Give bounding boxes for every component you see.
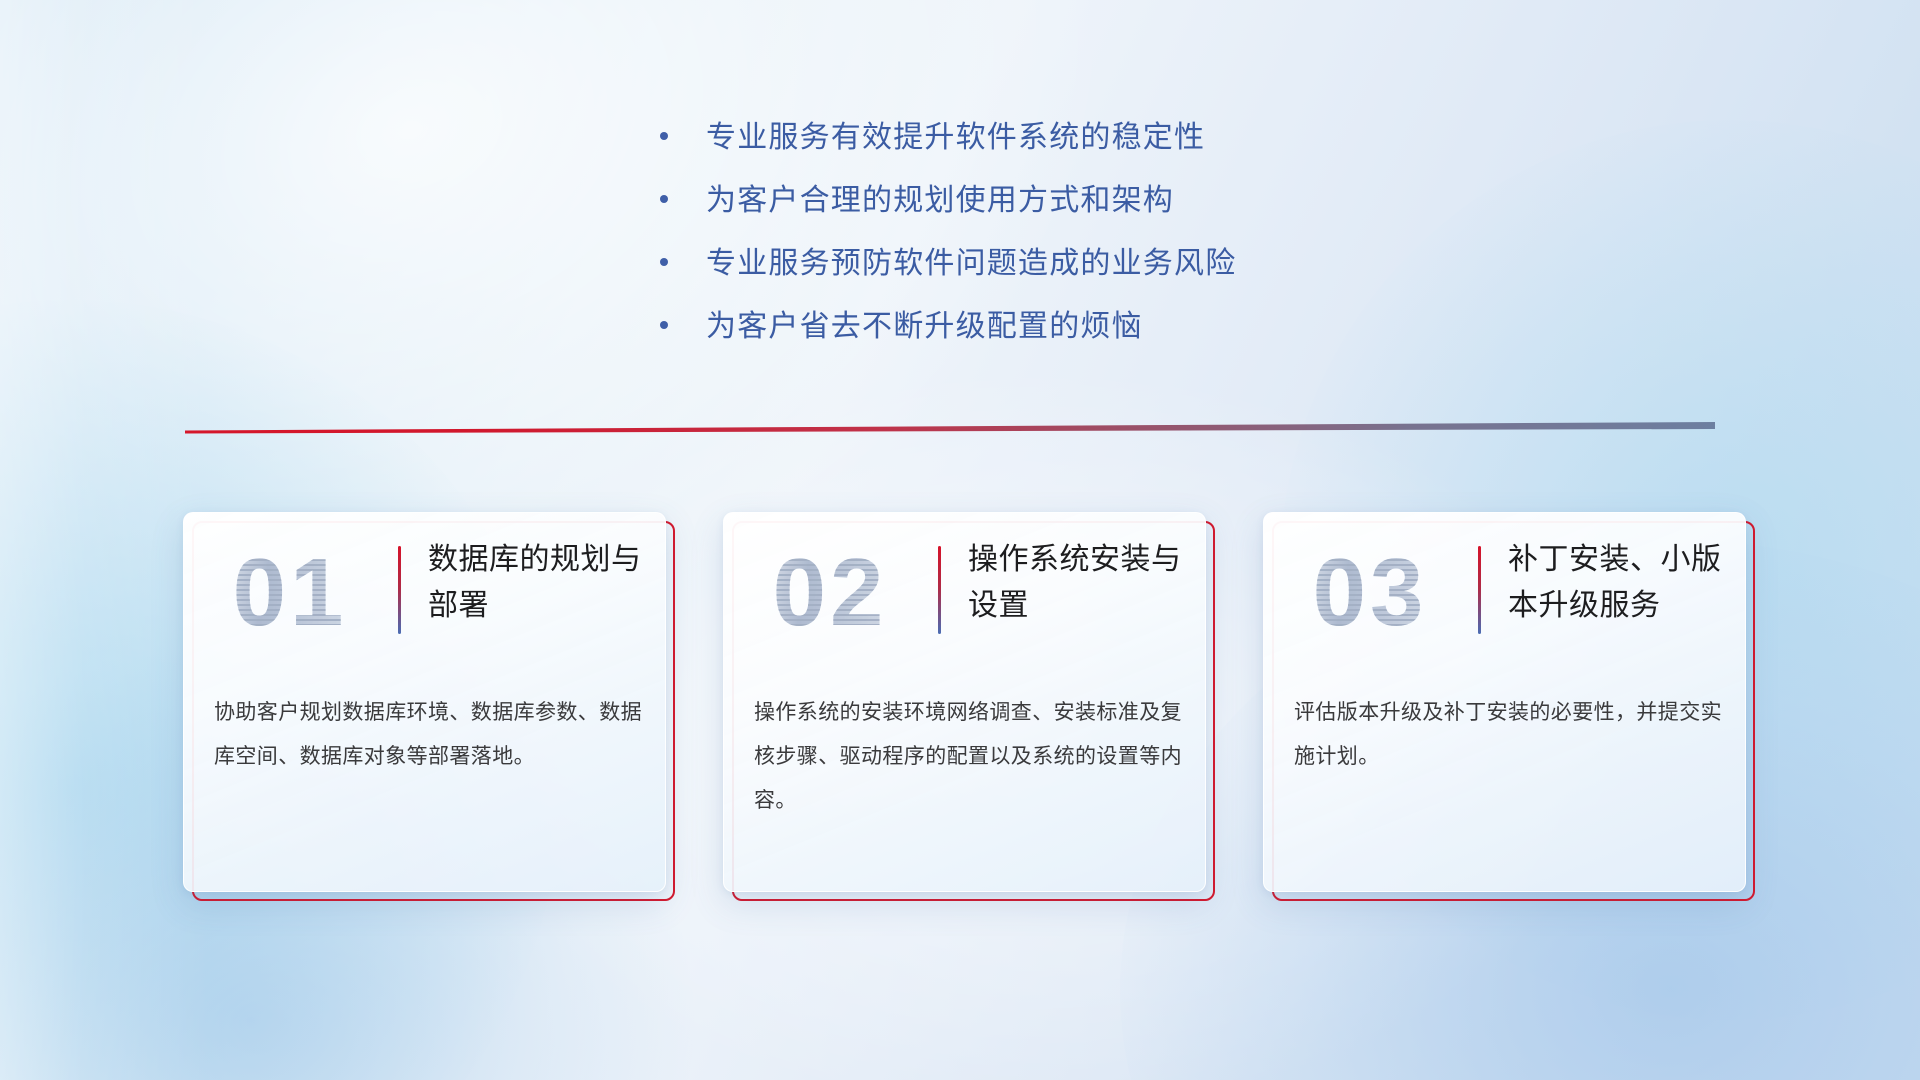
list-item: 为客户合理的规划使用方式和架构 [660, 175, 1420, 238]
bullet-text: 为客户合理的规划使用方式和架构 [706, 175, 1174, 219]
bullet-text: 为客户省去不断升级配置的烦恼 [706, 301, 1143, 345]
card-header: 01 数据库的规划与部署 [184, 513, 665, 681]
card-panel[interactable]: 02 操作系统安装与设置 操作系统的安装环境网络调查、安装标准及复核步骤、驱动程… [723, 512, 1206, 892]
card-divider-rule [1478, 546, 1481, 634]
bullet-dot-icon [660, 132, 668, 140]
card-header: 02 操作系统安装与设置 [724, 513, 1205, 681]
service-card-03[interactable]: 03 补丁安装、小版本升级服务 评估版本升级及补丁安装的必要性，并提交实施计划。 [1263, 512, 1746, 892]
card-description: 操作系统的安装环境网络调查、安装标准及复核步骤、驱动程序的配置以及系统的设置等内… [754, 691, 1182, 823]
service-card-02[interactable]: 02 操作系统安装与设置 操作系统的安装环境网络调查、安装标准及复核步骤、驱动程… [723, 512, 1206, 892]
service-card-01[interactable]: 01 数据库的规划与部署 协助客户规划数据库环境、数据库参数、数据库空间、数据库… [183, 512, 666, 892]
bullet-dot-icon [660, 195, 668, 203]
list-item: 为客户省去不断升级配置的烦恼 [660, 301, 1420, 364]
bullet-dot-icon [660, 321, 668, 329]
card-title: 补丁安装、小版本升级服务 [1508, 537, 1736, 629]
card-title: 数据库的规划与部署 [428, 537, 656, 629]
card-description: 协助客户规划数据库环境、数据库参数、数据库空间、数据库对象等部署落地。 [214, 691, 642, 779]
card-number: 01 [210, 539, 370, 647]
bullet-text: 专业服务有效提升软件系统的稳定性 [706, 112, 1205, 156]
card-panel[interactable]: 03 补丁安装、小版本升级服务 评估版本升级及补丁安装的必要性，并提交实施计划。 [1263, 512, 1746, 892]
card-number: 03 [1290, 539, 1450, 647]
card-divider-rule [938, 546, 941, 634]
background-light-streak [0, 0, 210, 1080]
list-item: 专业服务有效提升软件系统的稳定性 [660, 112, 1420, 175]
card-divider-rule [398, 546, 401, 634]
bullet-dot-icon [660, 258, 668, 266]
service-card-row: 01 数据库的规划与部署 协助客户规划数据库环境、数据库参数、数据库空间、数据库… [183, 512, 1746, 892]
slide-canvas: 专业服务有效提升软件系统的稳定性 为客户合理的规划使用方式和架构 专业服务预防软… [0, 0, 1920, 1080]
benefits-bullet-list: 专业服务有效提升软件系统的稳定性 为客户合理的规划使用方式和架构 专业服务预防软… [660, 112, 1420, 364]
list-item: 专业服务预防软件问题造成的业务风险 [660, 238, 1420, 301]
card-title: 操作系统安装与设置 [968, 537, 1196, 629]
card-number: 02 [750, 539, 910, 647]
card-header: 03 补丁安装、小版本升级服务 [1264, 513, 1745, 681]
card-description: 评估版本升级及补丁安装的必要性，并提交实施计划。 [1294, 691, 1722, 779]
card-panel[interactable]: 01 数据库的规划与部署 协助客户规划数据库环境、数据库参数、数据库空间、数据库… [183, 512, 666, 892]
section-divider [185, 422, 1715, 436]
bullet-text: 专业服务预防软件问题造成的业务风险 [706, 238, 1236, 282]
